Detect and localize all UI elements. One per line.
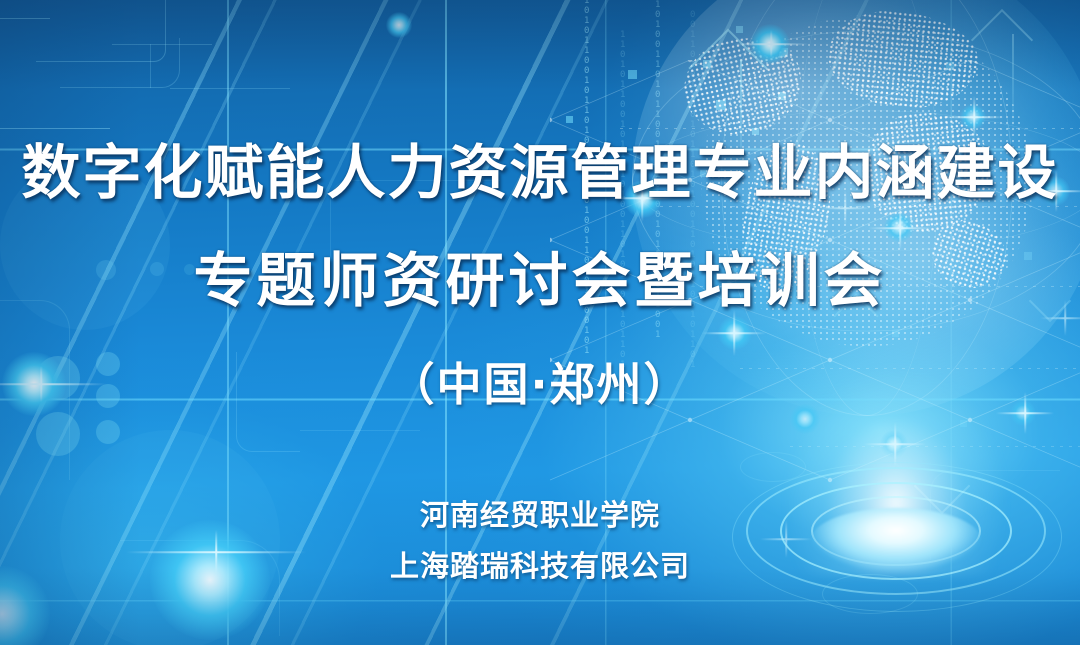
page-title-line-2: 专题师资研讨会暨培训会 [0, 233, 1080, 318]
poster-text-content: 数字化赋能人力资源管理专业内涵建设 专题师资研讨会暨培训会 （中国·郑州） 河南… [0, 0, 1080, 645]
organizer-name-1: 河南经贸职业学院 [0, 492, 1080, 534]
page-title-line-1: 数字化赋能人力资源管理专业内涵建设 [0, 125, 1080, 210]
poster-subtitle-location: （中国·郑州） [0, 348, 1080, 413]
conference-poster: 1 0 1 0 1 1 0 0 1 0 1 1 0 1 0 0 1 1 0 1 … [0, 0, 1080, 645]
organizer-name-2: 上海踏瑞科技有限公司 [0, 543, 1080, 585]
